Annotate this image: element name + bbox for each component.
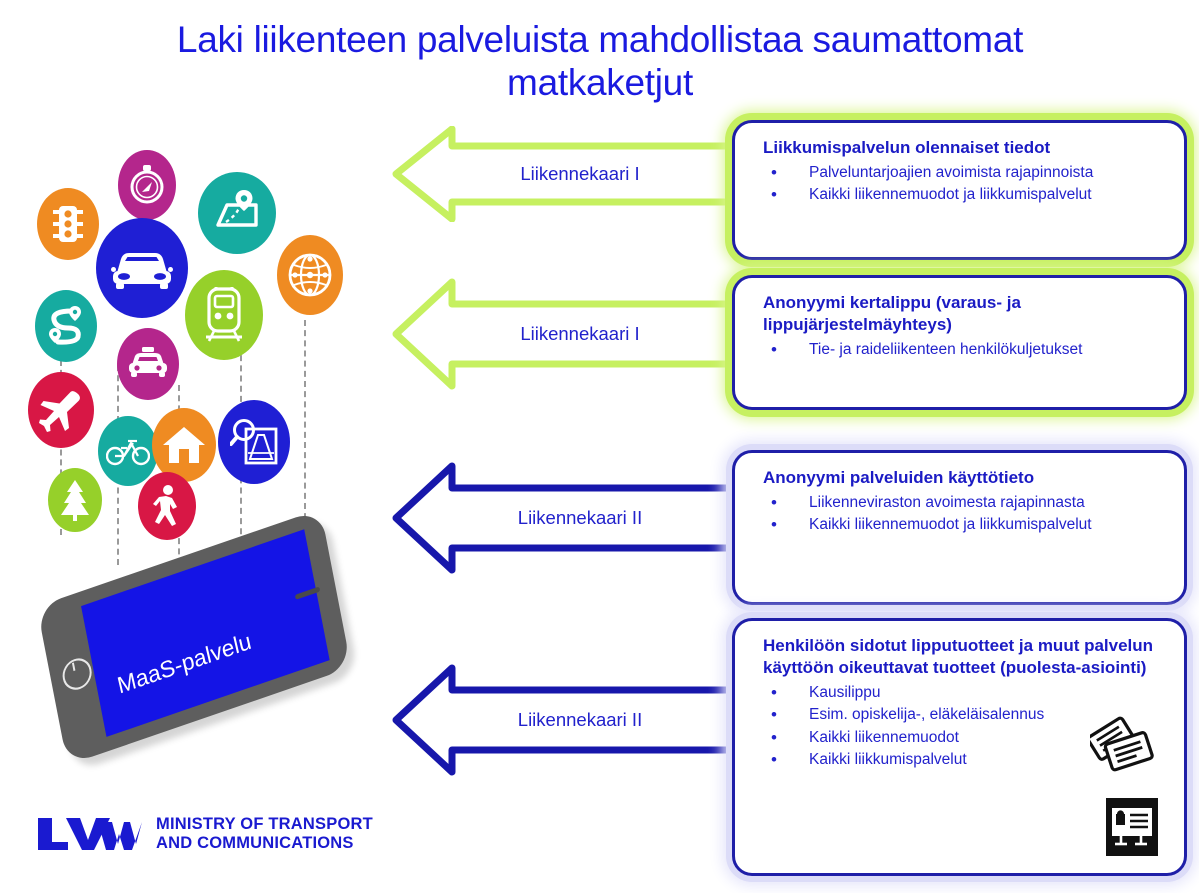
info-box-list: Palveluntarjoajien avoimista rajapinnois… xyxy=(763,162,1166,207)
list-item: Kaikki liikennemuodot ja liikkumispalvel… xyxy=(763,184,1166,207)
home-icon xyxy=(152,408,216,482)
list-item: Liikenneviraston avoimesta rajapinnasta xyxy=(763,492,1166,515)
arrow-label: Liikennekaari II xyxy=(392,709,730,731)
globe-icon xyxy=(277,235,343,315)
airplane-icon xyxy=(28,372,94,448)
maas-phone: MaaS-palvelu xyxy=(14,545,364,795)
logo-line-1: MINISTRY OF TRANSPORT xyxy=(156,815,373,834)
lvm-logo-mark xyxy=(36,816,144,852)
phone-screen xyxy=(81,529,330,737)
arrow-liikennekaari-2a: Liikennekaari II xyxy=(392,462,730,574)
arrow-liikennekaari-2b: Liikennekaari II xyxy=(392,664,730,776)
info-box-title: Liikkumispalvelun olennaiset tiedot xyxy=(763,137,1166,159)
tickets-icon xyxy=(1090,712,1166,787)
info-box-3: Anonyymi palveluiden käyttötieto Liikenn… xyxy=(732,450,1187,605)
ministry-logo: MINISTRY OF TRANSPORT AND COMMUNICATIONS xyxy=(36,815,373,854)
traffic-light-icon xyxy=(37,188,99,260)
info-box-1: Liikkumispalvelun olennaiset tiedot Palv… xyxy=(732,120,1187,260)
infographic-page: Laki liikenteen palveluista mahdollistaa… xyxy=(0,0,1199,893)
arrow-label: Liikennekaari I xyxy=(392,323,730,345)
tree-icon xyxy=(48,468,102,532)
car-icon xyxy=(96,218,188,318)
arrow-liikennekaari-1b: Liikennekaari I xyxy=(392,278,730,390)
page-title: Laki liikenteen palveluista mahdollistaa… xyxy=(95,18,1105,105)
arrow-liikennekaari-1a: Liikennekaari I xyxy=(392,126,730,222)
compass-icon xyxy=(118,150,176,220)
id-card-icon xyxy=(1102,796,1162,865)
info-box-list: Liikenneviraston avoimesta rajapinnasta … xyxy=(763,492,1166,537)
pedestrian-icon xyxy=(138,472,196,540)
logo-text: MINISTRY OF TRANSPORT AND COMMUNICATIONS xyxy=(156,815,373,854)
bicycle-icon xyxy=(98,416,158,486)
logo-line-2: AND COMMUNICATIONS xyxy=(156,834,373,853)
phone-body xyxy=(37,509,351,765)
arrow-label: Liikennekaari II xyxy=(392,507,730,529)
taxi-icon xyxy=(117,328,179,400)
map-search-icon xyxy=(218,400,290,484)
route-icon xyxy=(35,290,97,362)
info-box-4: Henkilöön sidotut lipputuotteet ja muut … xyxy=(732,618,1187,876)
phone-home-button xyxy=(60,654,94,694)
info-box-title: Anonyymi kertalippu (varaus- ja lippujär… xyxy=(763,292,1166,336)
info-box-2: Anonyymi kertalippu (varaus- ja lippujär… xyxy=(732,275,1187,410)
list-item: Tie- ja raideliikenteen henkilökuljetuks… xyxy=(763,339,1166,362)
arrow-label: Liikennekaari I xyxy=(392,163,730,185)
info-box-title: Henkilöön sidotut lipputuotteet ja muut … xyxy=(763,635,1166,679)
train-icon xyxy=(185,270,263,360)
map-pin-icon xyxy=(198,172,276,254)
list-item: Kausilippu xyxy=(763,682,1166,705)
info-box-list: Tie- ja raideliikenteen henkilökuljetuks… xyxy=(763,339,1166,362)
list-item: Palveluntarjoajien avoimista rajapinnois… xyxy=(763,162,1166,185)
list-item: Kaikki liikennemuodot ja liikkumispalvel… xyxy=(763,514,1166,537)
info-box-title: Anonyymi palveluiden käyttötieto xyxy=(763,467,1166,489)
